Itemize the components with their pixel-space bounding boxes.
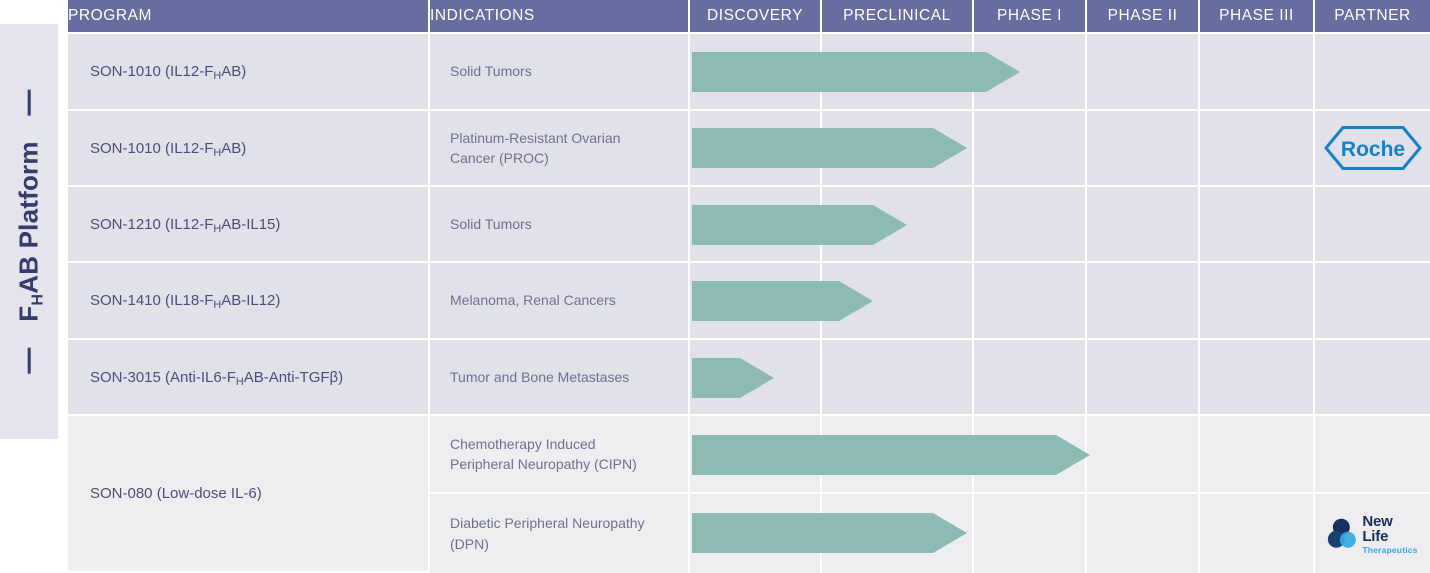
- partner-cell: [1315, 34, 1430, 111]
- roche-logo: Roche: [1323, 125, 1423, 171]
- stage-cell-discovery: [690, 34, 822, 111]
- stage-cell-phase-1: [974, 263, 1087, 340]
- stage-cell-discovery: [690, 263, 822, 340]
- indication-cell: Solid Tumors: [430, 34, 690, 111]
- three-circles-icon: [1327, 519, 1357, 549]
- stage-cell-phase-1: [974, 187, 1087, 263]
- stage-cell-discovery: [690, 494, 822, 573]
- partner-cell: New Life Therapeutics: [1315, 494, 1430, 573]
- partner-cell: [1315, 263, 1430, 340]
- stage-cell-discovery: [690, 111, 822, 187]
- column-header-phase-1[interactable]: PHASE I: [974, 0, 1087, 34]
- stage-cell-preclinical: [822, 494, 974, 573]
- program-cell: SON-1010 (IL12-FHAB): [68, 34, 430, 111]
- table-row: SON-1210 (IL12-FHAB-IL15) Solid Tumors: [68, 187, 1430, 263]
- table-body: SON-1010 (IL12-FHAB) Solid Tumors SON-10…: [68, 34, 1430, 573]
- column-header-preclinical[interactable]: PRECLINICAL: [822, 0, 974, 34]
- stage-cell-phase-2: [1087, 34, 1200, 111]
- stage-cell-phase-2: [1087, 494, 1200, 573]
- stage-cell-phase-1: [974, 494, 1087, 573]
- indication-cell: Platinum-Resistant OvarianCancer (PROC): [430, 111, 690, 187]
- column-header-partner[interactable]: PARTNER: [1315, 0, 1430, 34]
- stage-cell-phase-3: [1200, 416, 1315, 494]
- stage-cell-preclinical: [822, 340, 974, 416]
- column-header-discovery[interactable]: DISCOVERY: [690, 0, 822, 34]
- table-row: SON-3015 (Anti-IL6-FHAB-Anti-TGFβ) Tumor…: [68, 340, 1430, 416]
- program-cell: SON-1410 (IL18-FHAB-IL12): [68, 263, 430, 340]
- column-header-program[interactable]: PROGRAM: [68, 0, 430, 34]
- stage-cell-phase-3: [1200, 111, 1315, 187]
- indication-cell: Tumor and Bone Metastases: [430, 340, 690, 416]
- stage-cell-phase-3: [1200, 34, 1315, 111]
- roche-logo-text: Roche: [1340, 138, 1404, 161]
- partner-cell: [1315, 340, 1430, 416]
- partner-cell: [1315, 416, 1430, 494]
- table-row: SON-1410 (IL18-FHAB-IL12) Melanoma, Rena…: [68, 263, 1430, 340]
- stage-cell-preclinical: [822, 187, 974, 263]
- indication-cell: Chemotherapy InducedPeripheral Neuropath…: [430, 416, 690, 494]
- stage-cell-phase-1: [974, 416, 1087, 494]
- stage-cell-preclinical: [822, 263, 974, 340]
- stage-cell-phase-2: [1087, 416, 1200, 494]
- stage-cell-discovery: [690, 416, 822, 494]
- stage-cell-phase-3: [1200, 340, 1315, 416]
- new-life-therapeutics-logo: New Life Therapeutics: [1327, 513, 1417, 554]
- stage-cell-phase-2: [1087, 340, 1200, 416]
- header-row: PROGRAM INDICATIONS DISCOVERY PRECLINICA…: [68, 0, 1430, 34]
- new-life-logo-line2: Therapeutics: [1362, 545, 1417, 554]
- stage-cell-phase-3: [1200, 263, 1315, 340]
- platform-label-text: FHAB Platform: [14, 141, 45, 321]
- program-cell: SON-1210 (IL12-FHAB-IL15): [68, 187, 430, 263]
- table-header: PROGRAM INDICATIONS DISCOVERY PRECLINICA…: [68, 0, 1430, 34]
- stage-cell-phase-2: [1087, 187, 1200, 263]
- stage-cell-preclinical: [822, 111, 974, 187]
- new-life-logo-line1: New Life: [1362, 513, 1417, 543]
- indication-cell: Melanoma, Renal Cancers: [430, 263, 690, 340]
- pipeline-chart: FHAB Platform PROGRAM INDICATIONS DISCOV…: [0, 0, 1430, 573]
- stage-cell-phase-1: [974, 340, 1087, 416]
- stage-cell-phase-2: [1087, 263, 1200, 340]
- program-cell: SON-3015 (Anti-IL6-FHAB-Anti-TGFβ): [68, 340, 430, 416]
- partner-cell: Roche: [1315, 111, 1430, 187]
- table-row: SON-080 (Low-dose IL-6) Chemotherapy Ind…: [68, 416, 1430, 494]
- column-header-indications[interactable]: INDICATIONS: [430, 0, 690, 34]
- stage-cell-preclinical: [822, 416, 974, 494]
- platform-label-strip: FHAB Platform: [0, 24, 58, 439]
- column-header-phase-3[interactable]: PHASE III: [1200, 0, 1315, 34]
- program-cell: SON-080 (Low-dose IL-6): [68, 416, 430, 573]
- indication-cell: Diabetic Peripheral Neuropathy(DPN): [430, 494, 690, 573]
- stage-cell-phase-3: [1200, 494, 1315, 573]
- partner-cell: [1315, 187, 1430, 263]
- stage-cell-discovery: [690, 340, 822, 416]
- table-row: SON-1010 (IL12-FHAB) Solid Tumors: [68, 34, 1430, 111]
- column-header-phase-2[interactable]: PHASE II: [1087, 0, 1200, 34]
- program-cell: SON-1010 (IL12-FHAB): [68, 111, 430, 187]
- pipeline-table: PROGRAM INDICATIONS DISCOVERY PRECLINICA…: [68, 0, 1430, 573]
- stage-cell-discovery: [690, 187, 822, 263]
- stage-cell-phase-3: [1200, 187, 1315, 263]
- indication-cell: Solid Tumors: [430, 187, 690, 263]
- platform-dash-end-icon: [28, 89, 31, 115]
- stage-cell-preclinical: [822, 34, 974, 111]
- stage-cell-phase-1: [974, 111, 1087, 187]
- table-row: SON-1010 (IL12-FHAB) Platinum-Resistant …: [68, 111, 1430, 187]
- platform-dash-start-icon: [28, 348, 31, 374]
- stage-cell-phase-2: [1087, 111, 1200, 187]
- stage-cell-phase-1: [974, 34, 1087, 111]
- platform-label: FHAB Platform: [14, 89, 45, 373]
